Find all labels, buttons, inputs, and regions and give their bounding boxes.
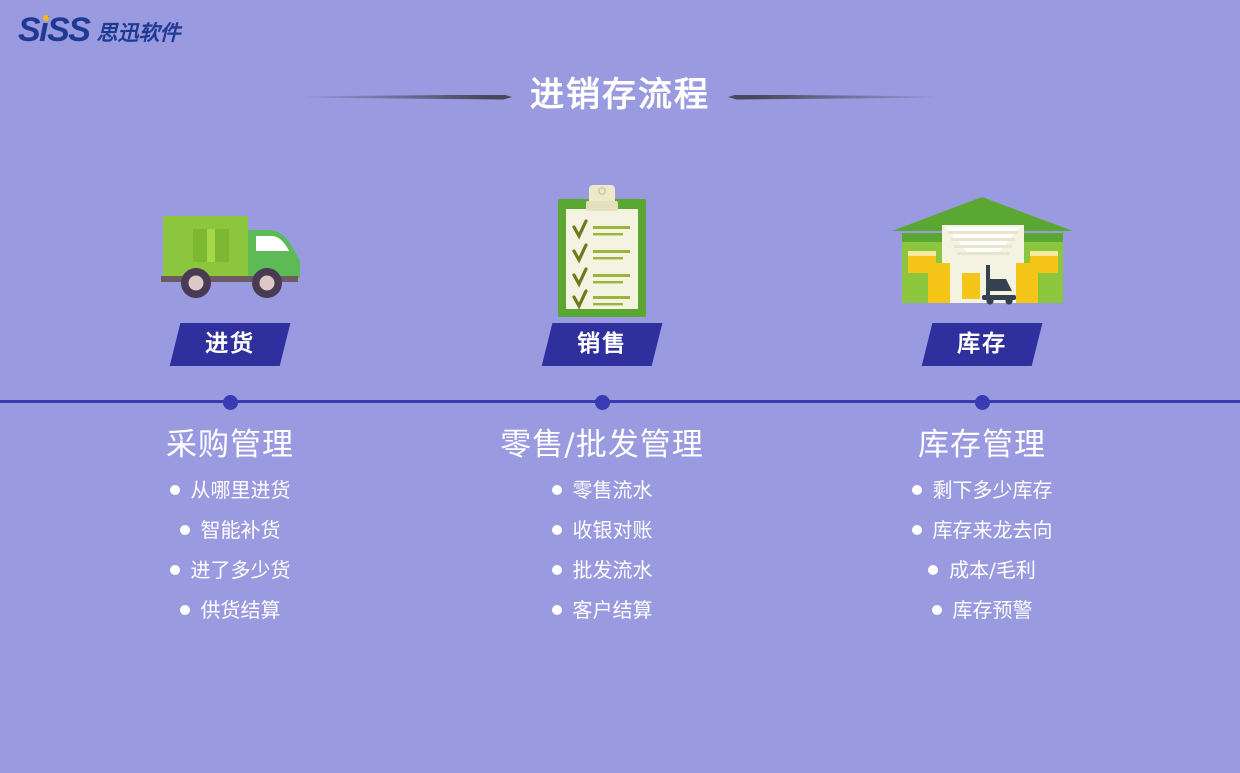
stage-purchase-icon-box: [80, 178, 380, 323]
brand-logo-text: SiSS: [18, 11, 89, 49]
list-item-label: 剩下多少库存: [933, 478, 1053, 502]
column-inventory-title: 库存管理: [817, 428, 1147, 464]
list-item-label: 供货结算: [201, 598, 281, 622]
bullet-icon: [180, 605, 190, 615]
stage-row: 进货: [0, 178, 1240, 398]
detail-columns: 采购管理 从哪里进货 智能补货 进了多少货 供货结算 零售/批发管理: [0, 428, 1240, 668]
column-inventory-list: 剩下多少库存 库存来龙去向 成本/毛利 库存预警: [817, 478, 1147, 638]
list-item[interactable]: 收银对账: [552, 518, 653, 542]
bullet-icon: [932, 605, 942, 615]
list-item-label: 库存来龙去向: [933, 518, 1053, 542]
column-purchase-title: 采购管理: [65, 428, 395, 464]
list-item-label: 从哪里进货: [191, 478, 291, 502]
list-item-label: 智能补货: [201, 518, 281, 542]
timeline-node-sales: [595, 395, 610, 410]
bullet-icon: [912, 485, 922, 495]
column-sales-list: 零售流水 收银对账 批发流水 客户结算: [437, 478, 767, 638]
list-item-label: 客户结算: [573, 598, 653, 622]
stage-banner-sales[interactable]: 销售: [542, 323, 663, 366]
bullet-icon: [552, 605, 562, 615]
list-item[interactable]: 库存预警: [932, 598, 1033, 622]
stage-sales-icon-box: [452, 178, 752, 323]
title-rule-left-icon: [307, 95, 512, 100]
warehouse-icon: [890, 195, 1075, 307]
bullet-icon: [912, 525, 922, 535]
list-item[interactable]: 从哪里进货: [170, 478, 291, 502]
timeline-divider: [0, 400, 1240, 403]
bullet-icon: [552, 565, 562, 575]
bullet-icon: [170, 565, 180, 575]
stage-banner-inventory-label: 库存: [957, 331, 1007, 357]
list-item[interactable]: 供货结算: [180, 598, 281, 622]
stage-banner-purchase-label: 进货: [205, 331, 255, 357]
list-item[interactable]: 剩下多少库存: [912, 478, 1053, 502]
column-inventory: 库存管理 剩下多少库存 库存来龙去向 成本/毛利 库存预警: [817, 428, 1147, 638]
page-title-row: 进销存流程: [0, 78, 1240, 116]
list-item-label: 进了多少货: [191, 558, 291, 582]
clipboard-checklist-icon: [552, 181, 652, 321]
page-title: 进销存流程: [530, 78, 710, 116]
list-item[interactable]: 库存来龙去向: [912, 518, 1053, 542]
stage-inventory[interactable]: 库存: [832, 178, 1132, 366]
bullet-icon: [928, 565, 938, 575]
stage-banner-inventory[interactable]: 库存: [922, 323, 1043, 366]
title-rule-right-icon: [728, 95, 933, 100]
list-item-label: 收银对账: [573, 518, 653, 542]
list-item-label: 库存预警: [953, 598, 1033, 622]
bullet-icon: [552, 525, 562, 535]
column-sales-title: 零售/批发管理: [437, 428, 767, 464]
list-item[interactable]: 批发流水: [552, 558, 653, 582]
timeline-node-purchase: [223, 395, 238, 410]
column-sales: 零售/批发管理 零售流水 收银对账 批发流水 客户结算: [437, 428, 767, 638]
bullet-icon: [180, 525, 190, 535]
list-item[interactable]: 客户结算: [552, 598, 653, 622]
list-item-label: 零售流水: [573, 478, 653, 502]
list-item-label: 成本/毛利: [949, 558, 1036, 582]
stage-banner-sales-label: 销售: [577, 331, 627, 357]
list-item-label: 批发流水: [573, 558, 653, 582]
list-item[interactable]: 进了多少货: [170, 558, 291, 582]
delivery-truck-icon: [155, 196, 305, 306]
stage-banner-purchase[interactable]: 进货: [170, 323, 291, 366]
brand-logo-cn: 思迅软件: [96, 16, 180, 44]
timeline-node-inventory: [975, 395, 990, 410]
column-purchase: 采购管理 从哪里进货 智能补货 进了多少货 供货结算: [65, 428, 395, 638]
stage-inventory-icon-box: [832, 178, 1132, 323]
list-item[interactable]: 智能补货: [180, 518, 281, 542]
brand-logo: SiSS 思迅软件: [18, 13, 180, 47]
bullet-icon: [170, 485, 180, 495]
brand-logo-mark: SiSS: [18, 13, 89, 47]
list-item[interactable]: 成本/毛利: [928, 558, 1036, 582]
brand-logo-dot-icon: [43, 15, 49, 21]
list-item[interactable]: 零售流水: [552, 478, 653, 502]
bullet-icon: [552, 485, 562, 495]
stage-purchase[interactable]: 进货: [80, 178, 380, 366]
column-purchase-list: 从哪里进货 智能补货 进了多少货 供货结算: [65, 478, 395, 638]
stage-sales[interactable]: 销售: [452, 178, 752, 366]
